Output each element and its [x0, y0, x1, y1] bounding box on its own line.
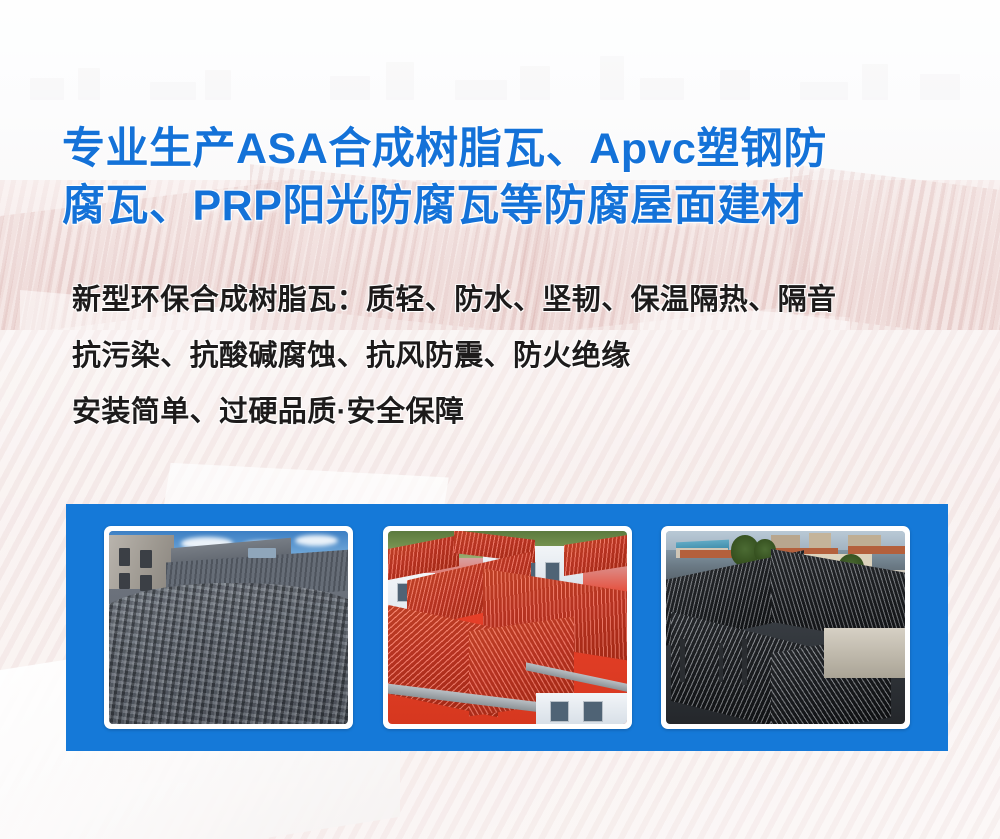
product-promo-banner: 专业生产ASA合成树脂瓦、Apvc塑钢防 腐瓦、PRP阳光防腐瓦等防腐屋面建材 … [0, 0, 1000, 839]
headline-line-2: 腐瓦、PRP阳光防腐瓦等防腐屋面建材 [62, 178, 952, 235]
feature-list: 新型环保合成树脂瓦：质轻、防水、坚韧、保温隔热、隔音 抗污染、抗酸碱腐蚀、抗风防… [72, 272, 952, 440]
photo-grey-resin-tile-roof [109, 531, 348, 724]
feature-line-2: 抗污染、抗酸碱腐蚀、抗风防震、防火绝缘 [72, 328, 952, 384]
photo-black-resin-tile-roof [666, 531, 905, 724]
banner-headline: 专业生产ASA合成树脂瓦、Apvc塑钢防 腐瓦、PRP阳光防腐瓦等防腐屋面建材 [62, 121, 952, 235]
feature-line-3: 安装简单、过硬品质·安全保障 [72, 384, 952, 440]
photo-frame-black-roof[interactable] [661, 526, 910, 729]
photo-red-resin-tile-roof [388, 531, 627, 724]
photo-frame-grey-roof[interactable] [104, 526, 353, 729]
photo-gallery-panel [66, 504, 948, 751]
headline-line-1: 专业生产ASA合成树脂瓦、Apvc塑钢防 [62, 121, 952, 178]
photo-frame-red-roof[interactable] [383, 526, 632, 729]
feature-line-1: 新型环保合成树脂瓦：质轻、防水、坚韧、保温隔热、隔音 [72, 272, 952, 328]
